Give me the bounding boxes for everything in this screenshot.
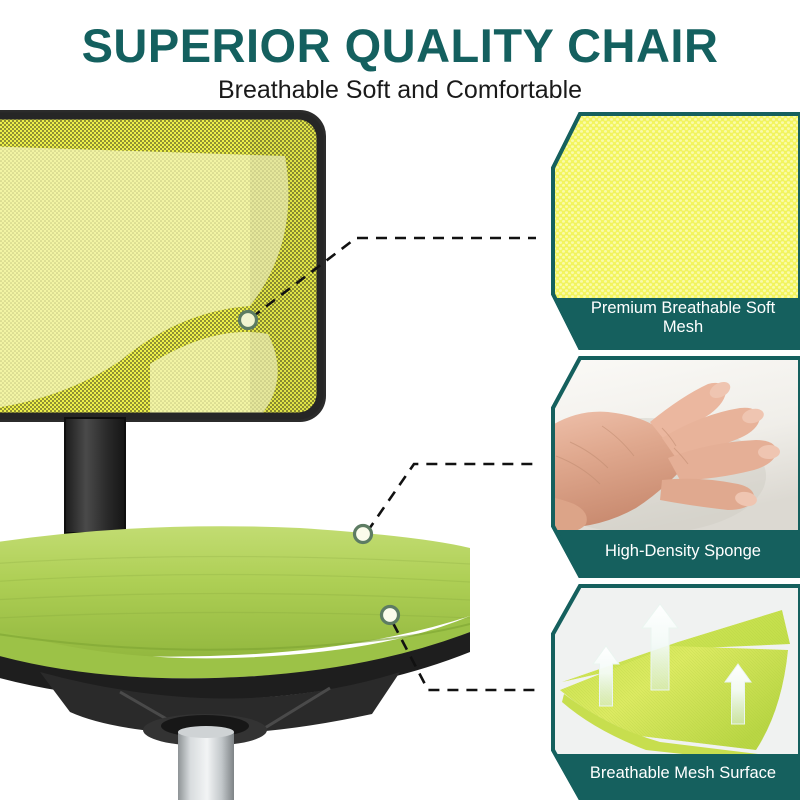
page-subtitle: Breathable Soft and Comfortable: [0, 78, 800, 103]
panel-caption: Breathable Mesh Surface: [550, 752, 800, 796]
header: SUPERIOR QUALITY CHAIR Breathable Soft a…: [0, 0, 800, 108]
feature-panel-high-density-sponge[interactable]: High-Density Sponge: [550, 356, 800, 578]
chair-illustration: [0, 96, 470, 800]
panel-caption: High-Density Sponge: [550, 530, 800, 574]
backrest-support-post: [65, 418, 125, 533]
mesh-backrest: [0, 110, 326, 422]
feature-panel-breathable-mesh-surface[interactable]: Breathable Mesh Surface: [550, 584, 800, 800]
panel-caption: Premium Breathable Soft Mesh: [550, 290, 800, 346]
feature-panel-premium-breathable-soft-mesh[interactable]: Premium Breathable Soft Mesh: [550, 112, 800, 350]
gas-lift-cylinder: [178, 726, 234, 800]
airflow-arrows-fabric: [550, 584, 800, 762]
mesh-weave-closeup: [550, 112, 800, 306]
product-infographic: Premium Breathable Soft Mesh: [0, 0, 800, 800]
page-title: SUPERIOR QUALITY CHAIR: [0, 22, 800, 69]
hand-pressing-sponge: [550, 356, 800, 534]
